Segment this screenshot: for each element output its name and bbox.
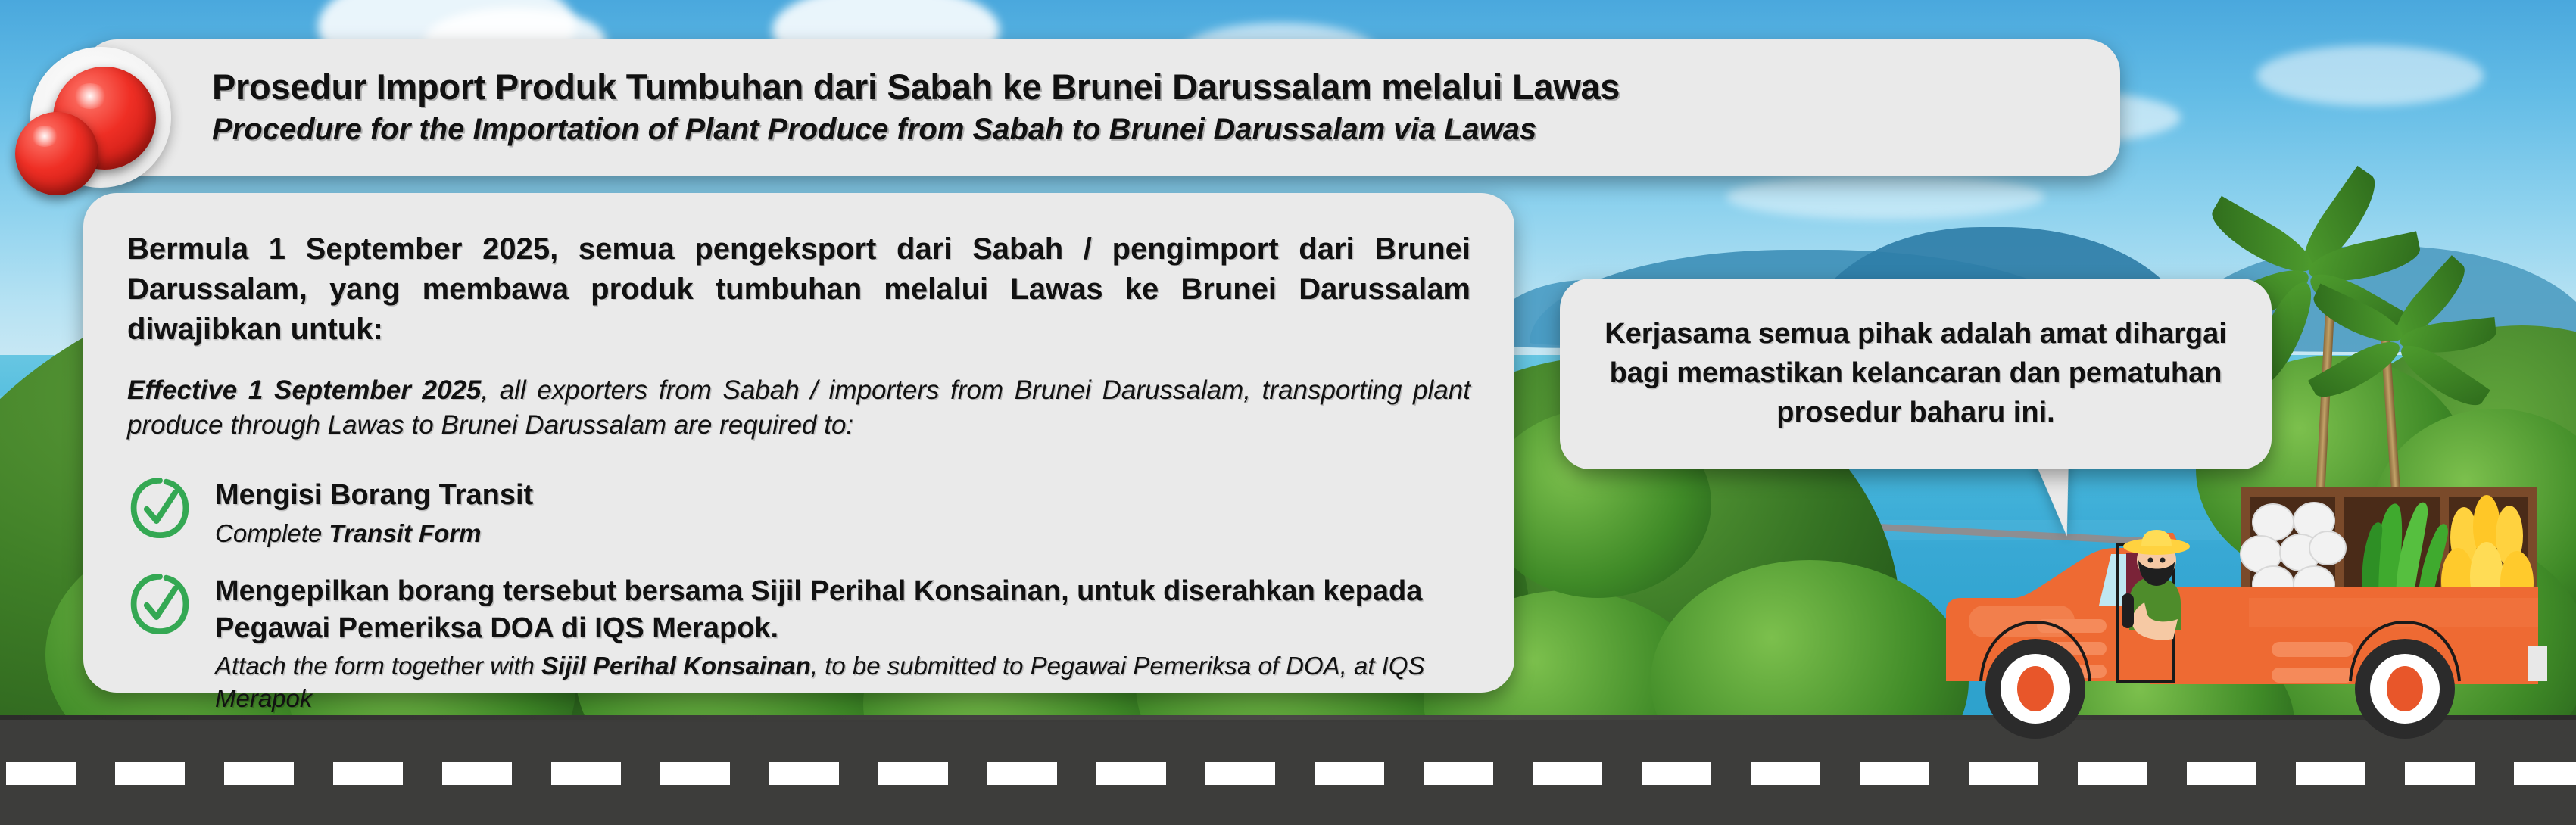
lane-dash [1533, 762, 1602, 785]
main-content-card: Bermula 1 September 2025, semua pengeksp… [83, 193, 1514, 693]
cloud [2256, 45, 2484, 106]
list-item-label-my: Mengepilkan borang tersebut bersama Siji… [215, 573, 1470, 648]
lane-dash [6, 762, 76, 785]
lane-dash [660, 762, 730, 785]
lane-dash [115, 762, 185, 785]
list-item: Mengisi Borang Transit Complete Transit … [127, 474, 1470, 549]
cloud [1726, 174, 2044, 219]
lane-dash [1860, 762, 1929, 785]
paragraph-english: Effective 1 September 2025, all exporter… [127, 373, 1470, 444]
lane-dash [1205, 762, 1275, 785]
list-item-text: Mengepilkan borang tersebut bersama Siji… [215, 570, 1470, 716]
front-wheel [1985, 639, 2085, 739]
lane-dash [1424, 762, 1493, 785]
en-prefix: Attach the form together with [215, 652, 541, 680]
lane-dash [1751, 762, 1820, 785]
en-bold: Transit Form [329, 519, 481, 547]
speech-bubble-text: Kerjasama semua pihak adalah amat diharg… [1589, 315, 2243, 432]
red-pushpin-icon [15, 112, 98, 195]
lane-dash [878, 762, 948, 785]
en-prefix: Complete [215, 519, 329, 547]
lane-dash [442, 762, 512, 785]
list-item-label-my: Mengisi Borang Transit [215, 477, 1470, 514]
lane-dash [1096, 762, 1166, 785]
paragraph-english-bold: Effective 1 September 2025 [127, 375, 481, 405]
en-bold: Sijil Perihal Konsainan [541, 652, 811, 680]
lane-dash [224, 762, 294, 785]
page-title-my: Prosedur Import Produk Tumbuhan dari Sab… [212, 67, 2072, 107]
green-check-circle-icon [127, 475, 192, 540]
lane-dash [987, 762, 1057, 785]
speech-bubble: Kerjasama semua pihak adalah amat diharg… [1560, 279, 2272, 469]
lane-dash [1315, 762, 1384, 785]
lane-dash [1642, 762, 1711, 785]
page-title-en: Procedure for the Importation of Plant P… [212, 111, 2072, 148]
paragraph-malay: Bermula 1 September 2025, semua pengeksp… [127, 229, 1470, 350]
lane-dash [551, 762, 621, 785]
list-item: Mengepilkan borang tersebut bersama Siji… [127, 570, 1470, 716]
lane-dash [333, 762, 403, 785]
requirements-list: Mengisi Borang Transit Complete Transit … [127, 474, 1470, 715]
paragraph-malay-bold: Bermula 1 September 2025, [127, 232, 558, 266]
list-item-text: Mengisi Borang Transit Complete Transit … [215, 474, 1470, 549]
lane-dash [769, 762, 839, 785]
title-banner: Prosedur Import Produk Tumbuhan dari Sab… [83, 39, 2120, 176]
rear-wheel [2355, 639, 2455, 739]
list-item-label-en: Complete Transit Form [215, 518, 1470, 550]
list-item-label-en: Attach the form together with Sijil Peri… [215, 650, 1470, 715]
green-check-circle-icon [127, 571, 192, 637]
orange-pickup-truck [1923, 454, 2576, 772]
